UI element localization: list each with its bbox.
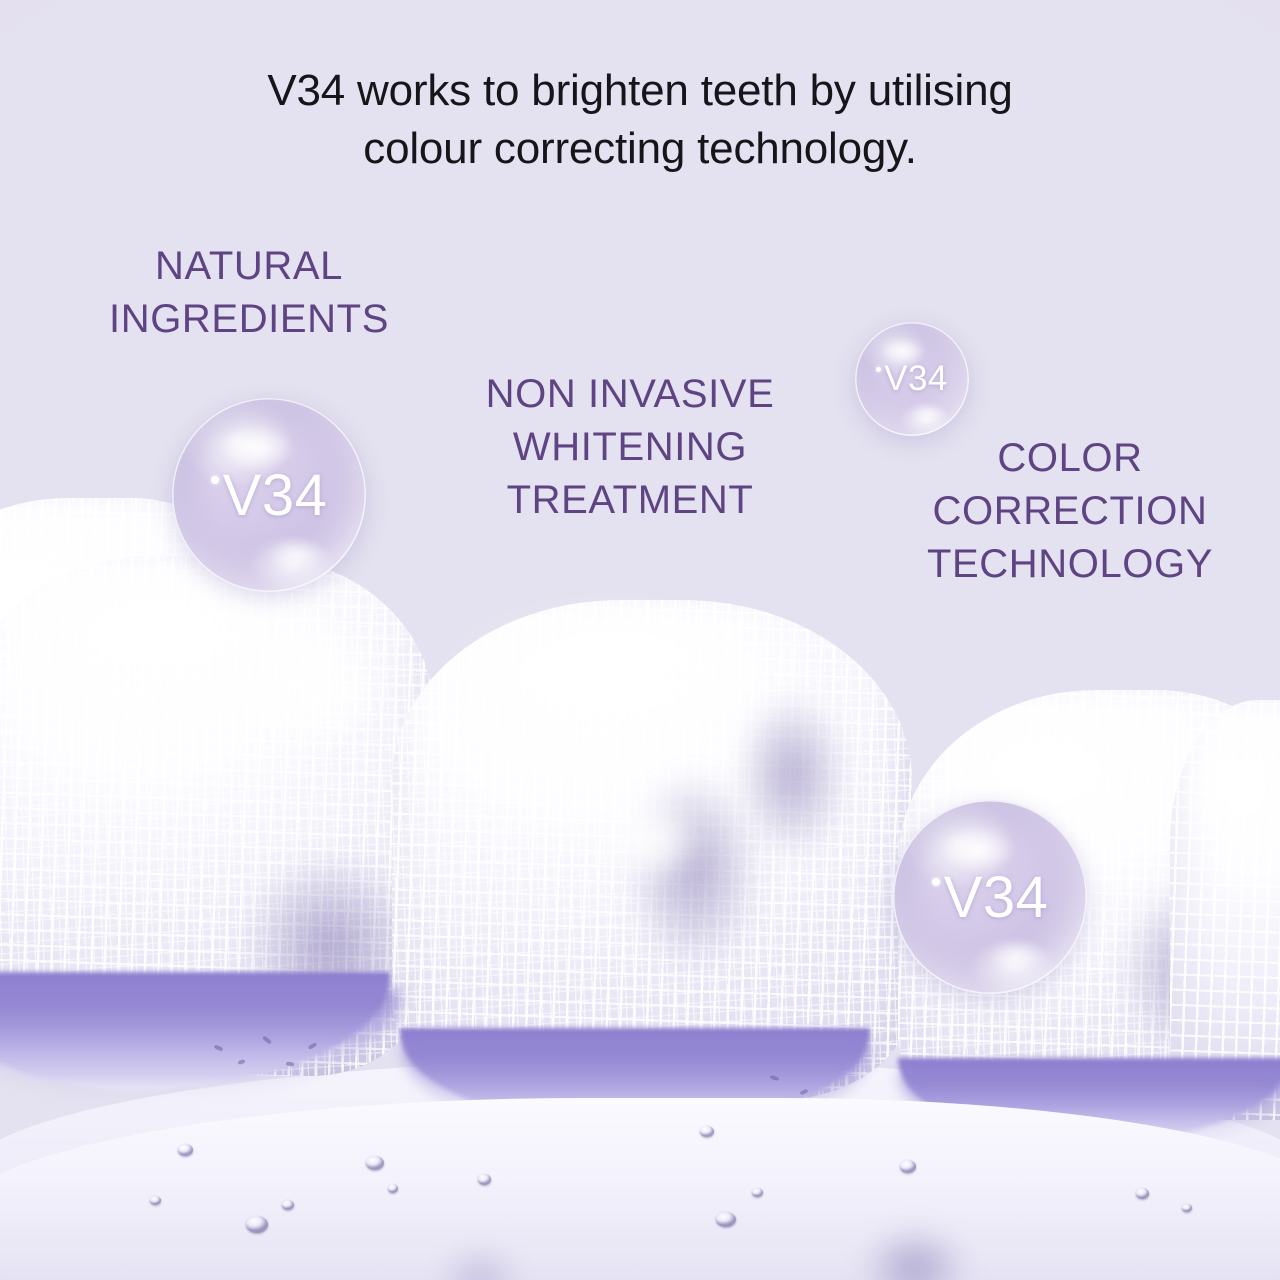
droplet — [1136, 1188, 1149, 1199]
headline-line-1: V34 works to brighten teeth by utilising — [0, 62, 1280, 120]
v34-bubble-top-small: V34 — [855, 322, 969, 436]
v34-dot-icon — [932, 878, 940, 886]
v34-dot-icon — [211, 476, 219, 484]
v34-bubble-top-label: V34 — [876, 359, 948, 399]
droplet — [716, 1212, 736, 1227]
feature-noninvasive-line-3: TREATMENT — [405, 474, 855, 527]
v34-bubble-left-text: V34 — [223, 462, 328, 529]
droplet — [246, 1216, 268, 1233]
v34-bubble-top-text: V34 — [884, 359, 948, 399]
v34-bubble-left-large: V34 — [172, 398, 366, 592]
feature-color-line-1: COLOR — [865, 432, 1275, 485]
teeth-photo-background — [0, 0, 1280, 1280]
tooth-left-center — [0, 556, 434, 1076]
feature-color-line-2: CORRECTION — [865, 485, 1275, 538]
droplet — [1182, 1204, 1192, 1212]
droplet — [752, 1188, 763, 1197]
feature-label-non-invasive-whitening-treatment: NON INVASIVE WHITENING TREATMENT — [405, 368, 855, 526]
gum-foreground — [0, 1098, 1280, 1280]
droplet — [282, 1200, 294, 1210]
feature-noninvasive-line-2: WHITENING — [405, 421, 855, 474]
v34-bubble-right-label: V34 — [932, 864, 1049, 931]
gum-gap-shadow-2 — [420, 1230, 540, 1280]
headline-line-2: colour correcting technology. — [0, 120, 1280, 178]
droplet — [150, 1196, 161, 1205]
droplet — [900, 1160, 916, 1173]
feature-label-color-correction-technology: COLOR CORRECTION TECHNOLOGY — [865, 432, 1275, 590]
droplet — [388, 1184, 398, 1193]
droplet — [366, 1156, 384, 1170]
promo-image-root: V34 works to brighten teeth by utilising… — [0, 0, 1280, 1280]
v34-bubble-right-text: V34 — [944, 864, 1049, 931]
tooth-far-right — [1170, 700, 1280, 1120]
tooth-center — [392, 600, 912, 1100]
droplet — [478, 1174, 491, 1185]
droplet — [700, 1126, 714, 1137]
v34-bubble-left-label: V34 — [211, 462, 328, 529]
droplet — [178, 1144, 193, 1156]
feature-color-line-3: TECHNOLOGY — [865, 538, 1275, 591]
page-title: V34 works to brighten teeth by utilising… — [0, 62, 1280, 178]
feature-natural-line-1: NATURAL — [24, 240, 474, 293]
feature-label-natural-ingredients: NATURAL INGREDIENTS — [24, 240, 474, 346]
feature-natural-line-2: INGREDIENTS — [24, 293, 474, 346]
v34-dot-icon — [876, 367, 881, 372]
gum-gap-shadow — [840, 1208, 990, 1280]
v34-bubble-right-large: V34 — [893, 800, 1087, 994]
feature-noninvasive-line-1: NON INVASIVE — [405, 368, 855, 421]
